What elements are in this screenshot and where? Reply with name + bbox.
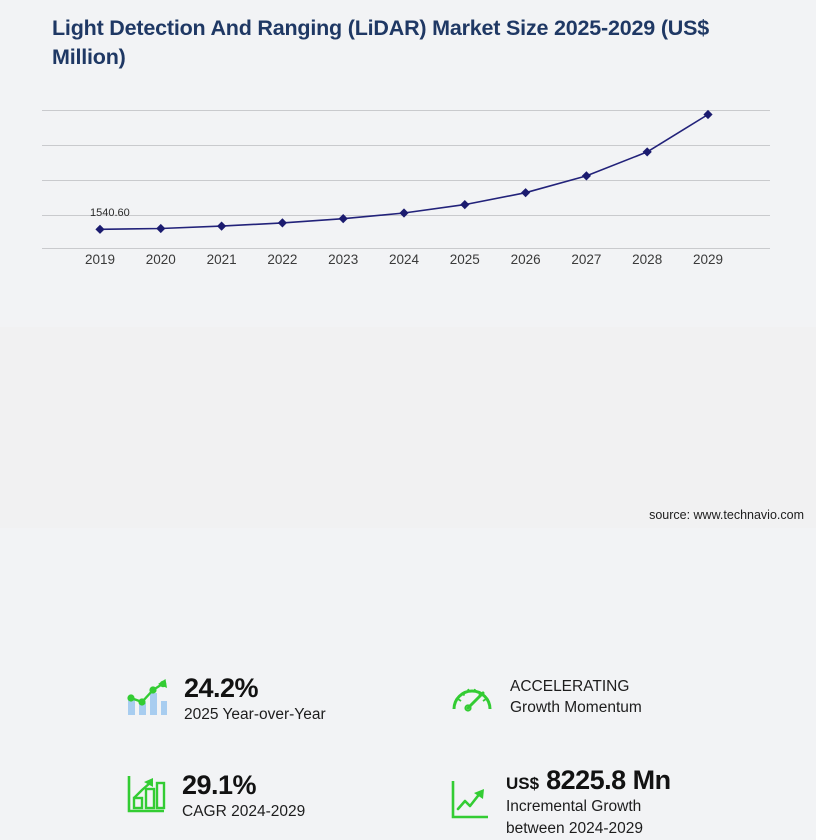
stat-momentum-value: ACCELERATING bbox=[510, 677, 642, 697]
data-point-2028 bbox=[643, 147, 652, 156]
x-axis-tick-2020: 2020 bbox=[146, 252, 176, 267]
x-axis-tick-2019: 2019 bbox=[85, 252, 115, 267]
stat-yoy-value: 24.2% bbox=[184, 673, 326, 703]
stat-cagr-label: CAGR 2024-2029 bbox=[182, 802, 305, 822]
stat-incremental-label-1: Incremental Growth bbox=[506, 797, 671, 817]
line-arrow-up-icon bbox=[450, 779, 490, 826]
stat-yoy-label: 2025 Year-over-Year bbox=[184, 705, 326, 725]
stat-yoy: 24.2% 2025 Year-over-Year bbox=[126, 673, 326, 725]
data-point-2020 bbox=[156, 224, 165, 233]
stat-incremental-label-2: between 2024-2029 bbox=[506, 819, 671, 839]
x-axis-tick-2023: 2023 bbox=[328, 252, 358, 267]
line-chart: 1540.60 20192020202120222023202420252026… bbox=[0, 92, 816, 280]
data-point-2019 bbox=[95, 225, 104, 234]
stat-incremental-value: US$ 8225.8 Mn bbox=[506, 765, 671, 795]
data-point-2029 bbox=[703, 110, 712, 119]
stat-momentum-label: Growth Momentum bbox=[510, 698, 642, 718]
speedometer-icon bbox=[450, 677, 494, 718]
bar-arrow-up-icon bbox=[126, 774, 166, 819]
data-point-2023 bbox=[339, 214, 348, 223]
data-point-2027 bbox=[582, 171, 591, 180]
incremental-amount: 8225.8 Mn bbox=[546, 765, 671, 795]
data-point-2025 bbox=[460, 200, 469, 209]
data-point-2022 bbox=[278, 218, 287, 227]
x-axis-tick-2029: 2029 bbox=[693, 252, 723, 267]
bar-line-growth-icon bbox=[126, 677, 168, 722]
currency-unit: US$ bbox=[506, 774, 539, 793]
x-axis-tick-2022: 2022 bbox=[267, 252, 297, 267]
x-axis-line bbox=[42, 248, 770, 249]
x-axis-tick-2026: 2026 bbox=[511, 252, 541, 267]
x-axis-ticks: 2019202020212022202320242025202620272028… bbox=[42, 252, 770, 278]
stat-cagr-value: 29.1% bbox=[182, 770, 305, 800]
data-point-2024 bbox=[399, 208, 408, 217]
stat-incremental: US$ 8225.8 Mn Incremental Growth between… bbox=[450, 765, 671, 840]
infographic-page: Light Detection And Ranging (LiDAR) Mark… bbox=[0, 0, 816, 528]
stats-panel: 24.2% 2025 Year-over-Year 29.1% CAGR 202… bbox=[0, 327, 816, 528]
plot-area: 1540.60 bbox=[42, 92, 770, 248]
x-axis-tick-2025: 2025 bbox=[450, 252, 480, 267]
x-axis-tick-2027: 2027 bbox=[571, 252, 601, 267]
x-axis-tick-2028: 2028 bbox=[632, 252, 662, 267]
stat-momentum: ACCELERATING Growth Momentum bbox=[450, 677, 642, 718]
data-point-2026 bbox=[521, 188, 530, 197]
page-title: Light Detection And Ranging (LiDAR) Mark… bbox=[52, 14, 752, 71]
source-text: source: www.technavio.com bbox=[649, 508, 804, 522]
series-line bbox=[42, 92, 770, 248]
x-axis-tick-2021: 2021 bbox=[207, 252, 237, 267]
x-axis-tick-2024: 2024 bbox=[389, 252, 419, 267]
stat-cagr: 29.1% CAGR 2024-2029 bbox=[126, 770, 305, 822]
data-point-2021 bbox=[217, 221, 226, 230]
data-label-2019: 1540.60 bbox=[90, 207, 130, 219]
